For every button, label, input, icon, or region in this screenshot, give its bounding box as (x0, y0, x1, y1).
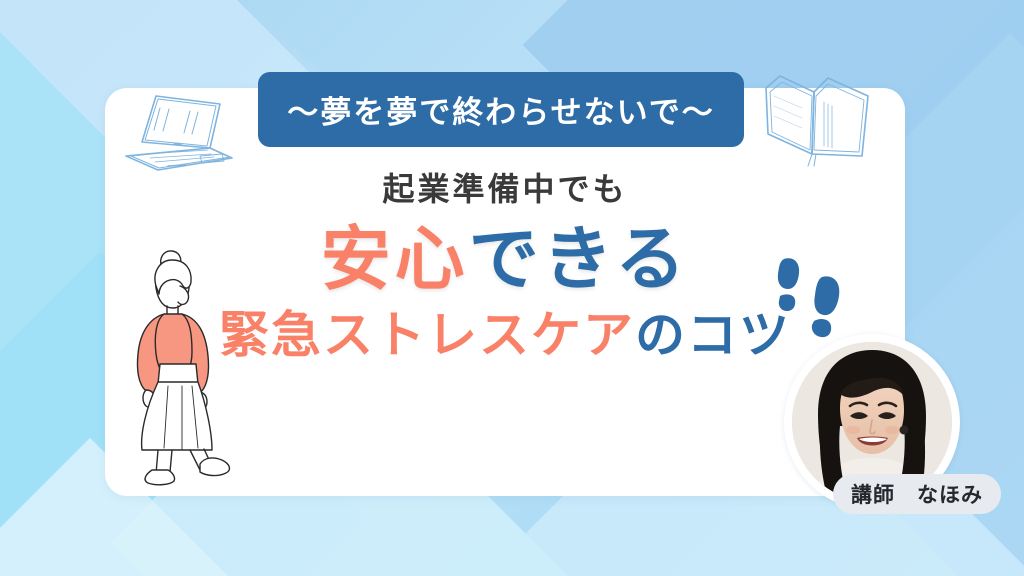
open-book-icon (758, 62, 876, 174)
banner-ribbon: 〜夢を夢で終わらせないで〜 (258, 72, 744, 147)
presenter-name-badge: 講師 なほみ (833, 474, 1001, 514)
laptop-icon (112, 78, 240, 178)
slide-canvas: 〜夢を夢で終わらせないで〜 起業準備中でも 安心できる 緊急ストレスケアのコツ (0, 0, 1024, 576)
banner-text: 〜夢を夢で終わらせないで〜 (287, 87, 714, 132)
presenter-name-text: 講師 なほみ (851, 479, 983, 509)
walking-woman-illustration (112, 236, 244, 488)
footprints-icon (770, 256, 848, 340)
